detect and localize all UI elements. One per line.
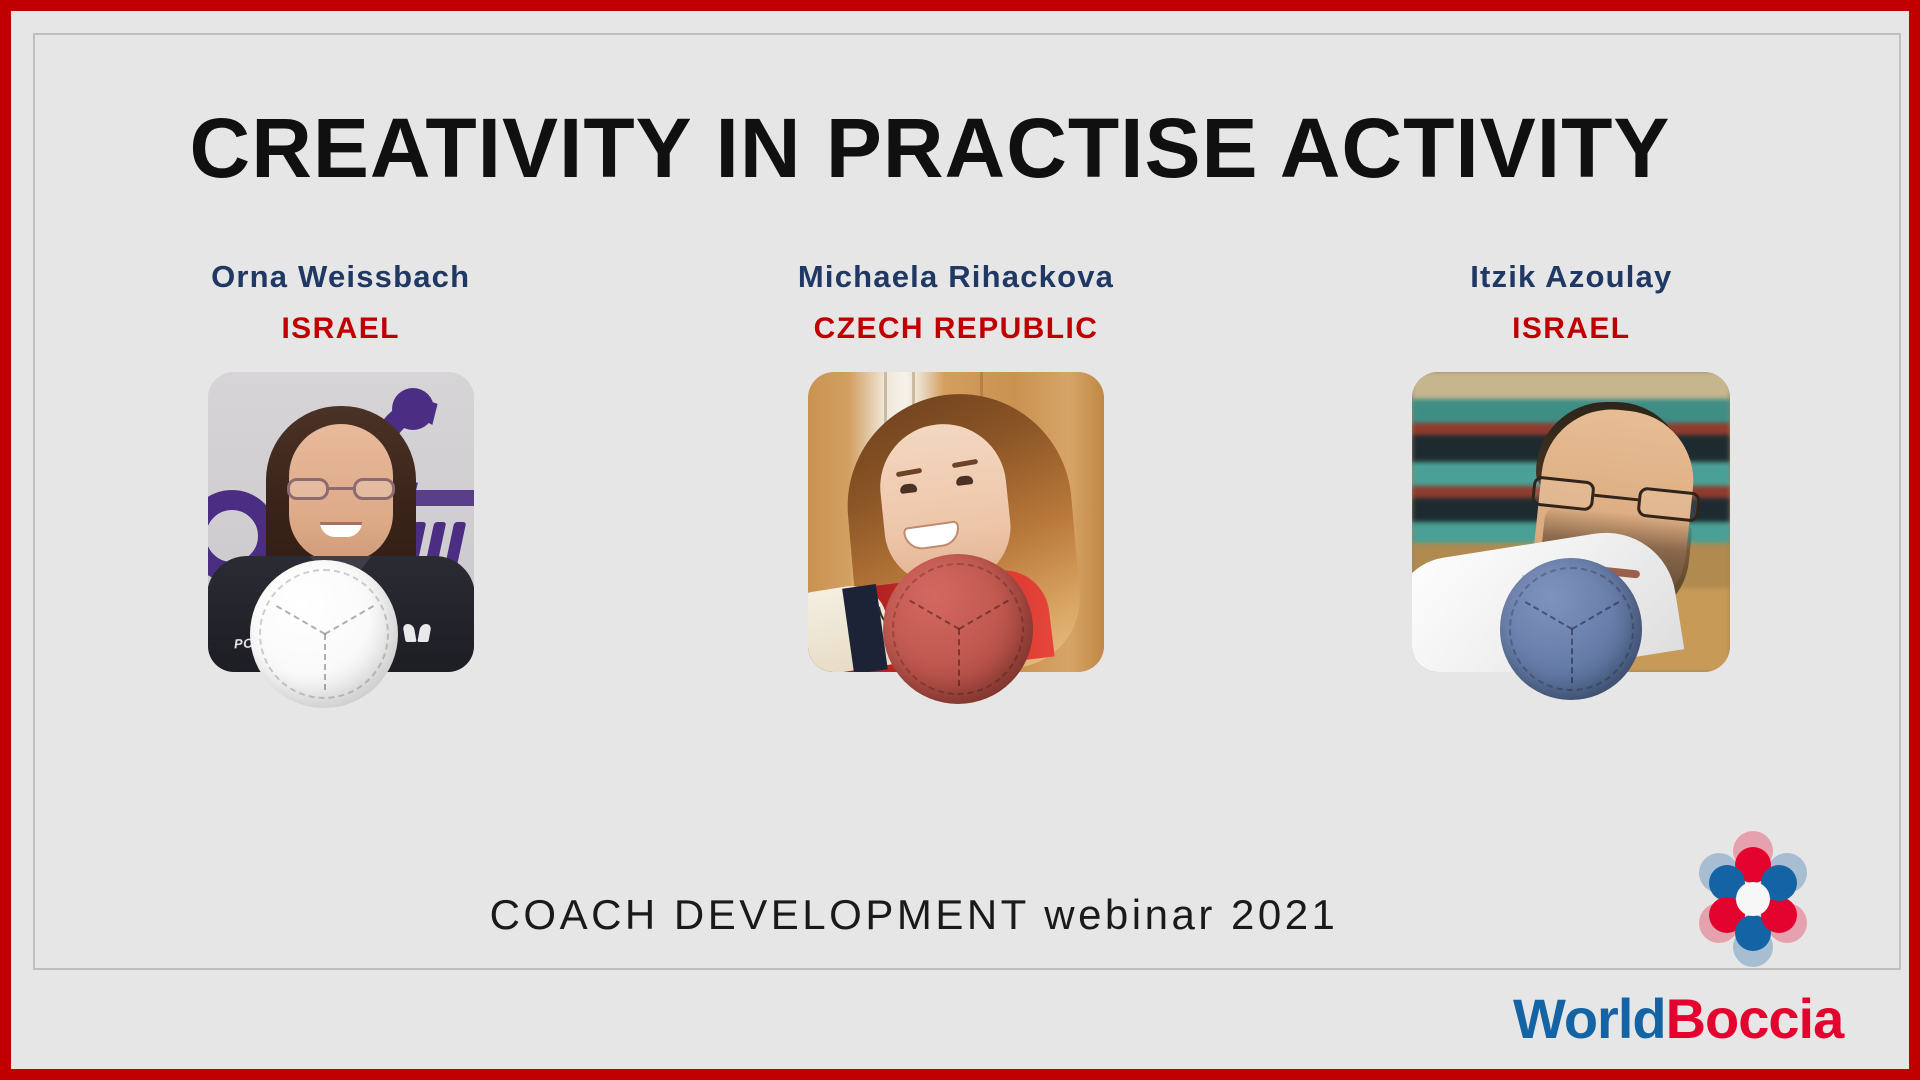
presenter-photo-wrap-2 bbox=[808, 372, 1104, 672]
worldboccia-logo: WorldBoccia bbox=[1513, 847, 1873, 1047]
worldboccia-flower-mark-icon bbox=[1695, 841, 1811, 957]
presenter-photo-wrap-1: PODIUM bbox=[208, 372, 474, 672]
sportswear-brand-icon bbox=[404, 624, 430, 642]
presenter-country: ISRAEL bbox=[281, 312, 399, 346]
presenter-name: Michaela Rihackova bbox=[798, 259, 1114, 295]
boccia-ball-red bbox=[883, 554, 1033, 704]
presenter-card-1: Orna Weissbach ISRAEL bbox=[141, 259, 541, 672]
boccia-ball-blue bbox=[1500, 558, 1642, 700]
presenter-country: CZECH REPUBLIC bbox=[814, 312, 1099, 346]
presenter-card-2: Michaela Rihackova CZECH REPUBLIC bbox=[756, 259, 1156, 672]
presenter-row: Orna Weissbach ISRAEL bbox=[33, 259, 1879, 672]
presenter-photo-wrap-3 bbox=[1412, 372, 1730, 672]
presenter-country: ISRAEL bbox=[1512, 312, 1630, 346]
boccia-ball-white bbox=[250, 560, 398, 708]
presenter-card-3: Itzik Azoulay ISRAEL bbox=[1371, 259, 1771, 672]
presenter-name: Orna Weissbach bbox=[211, 259, 470, 295]
worldboccia-wordmark: WorldBoccia bbox=[1513, 991, 1843, 1047]
glasses-icon bbox=[287, 478, 395, 500]
logo-word-boccia: Boccia bbox=[1666, 987, 1844, 1050]
logo-word-world: World bbox=[1513, 987, 1666, 1050]
slide-title: CREATIVITY IN PRACTISE ACTIVITY bbox=[11, 106, 1849, 190]
presentation-slide: CREATIVITY IN PRACTISE ACTIVITY Orna Wei… bbox=[0, 0, 1920, 1080]
presenter-name: Itzik Azoulay bbox=[1470, 259, 1672, 295]
